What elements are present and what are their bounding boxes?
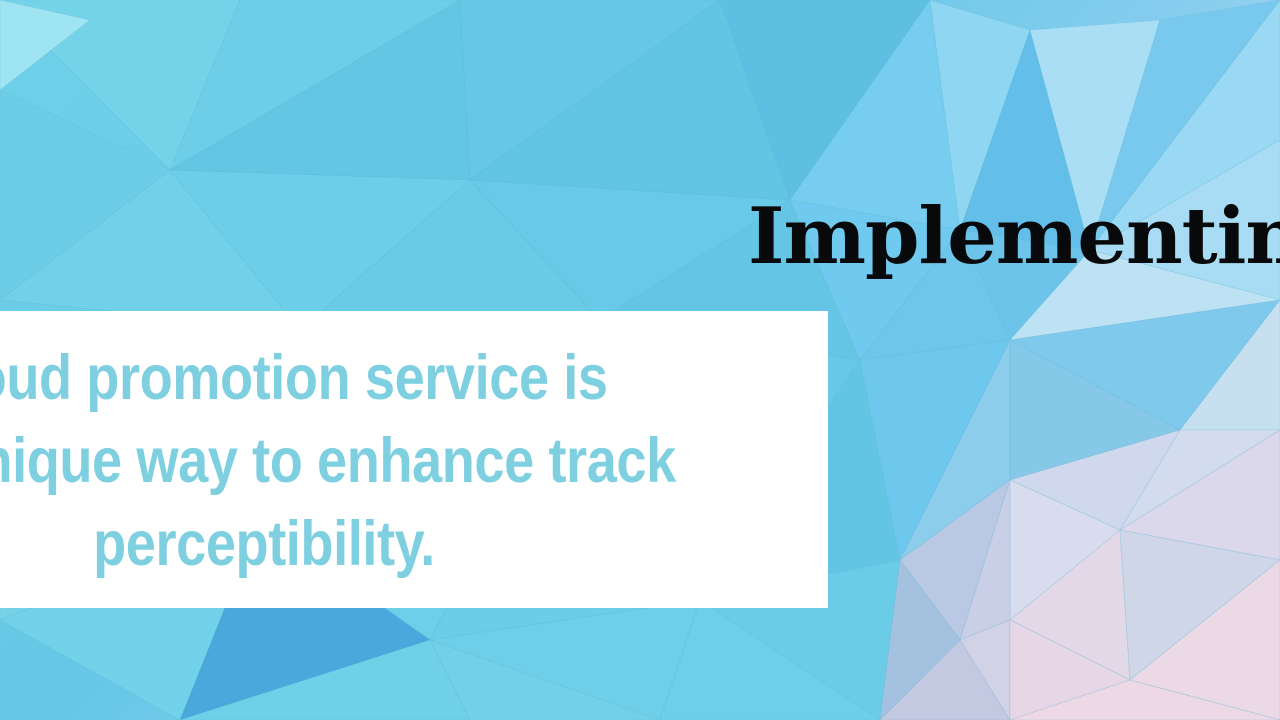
quote-text: Cloud promotion service is the unique wa… (0, 337, 749, 586)
quote-panel: Cloud promotion service is the unique wa… (0, 311, 828, 608)
presentation-slide: Implementing Cloud promotion service is … (0, 0, 1280, 720)
slide-heading: Implementing (748, 198, 1280, 276)
